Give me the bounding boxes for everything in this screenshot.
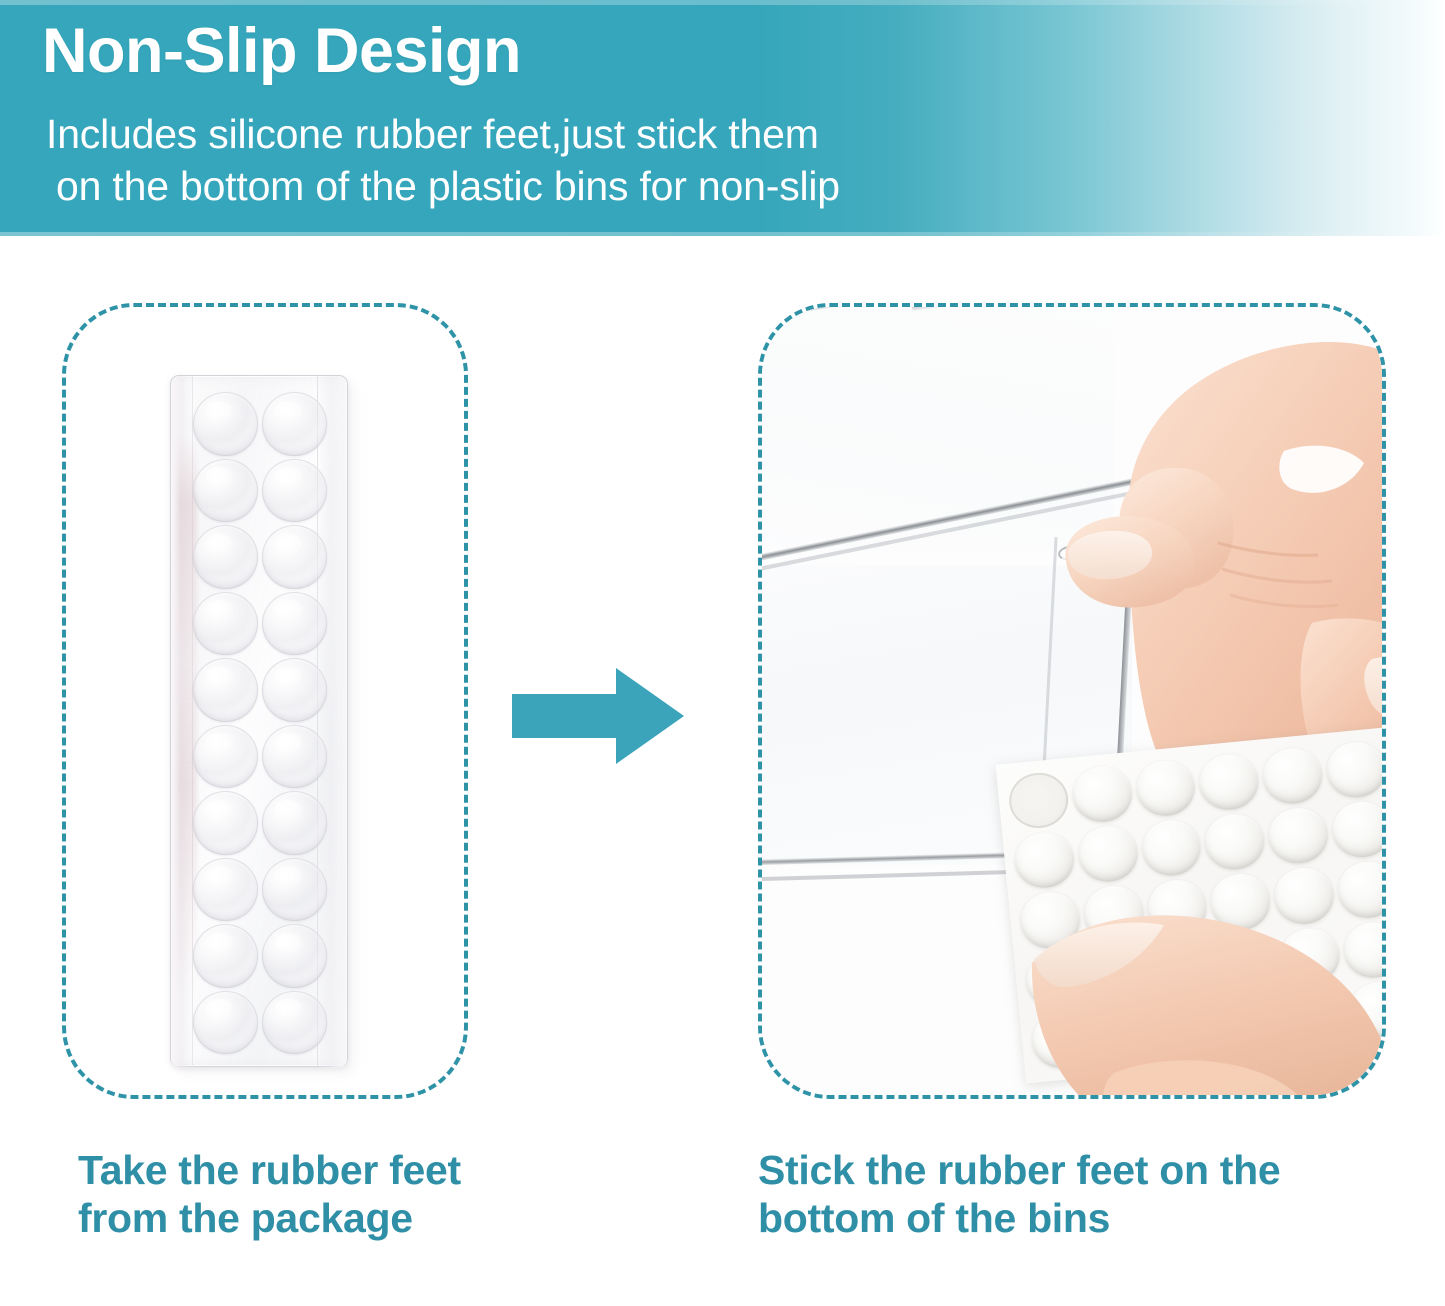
clear-dome	[262, 592, 327, 656]
clear-dome-grid	[193, 392, 327, 1054]
strip-body	[170, 375, 348, 1067]
white-bump	[1203, 812, 1267, 873]
step-1-caption: Take the rubber feet from the package	[78, 1146, 508, 1242]
header-subtitle-line-2: on the bottom of the plastic bins for no…	[46, 160, 840, 212]
header-subtitle-line-1: Includes silicone rubber feet,just stick…	[46, 111, 819, 157]
clear-dome	[262, 858, 327, 922]
white-bump	[1197, 752, 1261, 813]
clear-dome	[193, 991, 258, 1055]
clear-dome	[262, 658, 327, 722]
clear-dome	[262, 924, 327, 988]
thumb-pressing-sheet	[1024, 867, 1386, 1099]
clear-dome	[193, 791, 258, 855]
clear-dome	[262, 392, 327, 456]
header-banner: Non-Slip Design Includes silicone rubber…	[0, 0, 1445, 236]
clear-dome	[193, 459, 258, 523]
clear-dome	[262, 725, 327, 789]
header-subtitle: Includes silicone rubber feet,just stick…	[46, 108, 840, 212]
hand-gripping-bin	[1012, 307, 1386, 763]
clear-dome	[193, 858, 258, 922]
clear-dome	[193, 592, 258, 656]
clear-dome	[262, 991, 327, 1055]
bin-and-hand-image	[762, 307, 1386, 1099]
white-bump	[1070, 764, 1134, 825]
white-bump	[1261, 746, 1325, 807]
clear-dome	[193, 658, 258, 722]
clear-dome	[193, 525, 258, 589]
clear-dome	[193, 725, 258, 789]
step-1-panel	[62, 303, 468, 1099]
white-bump	[1324, 740, 1386, 801]
page-title: Non-Slip Design	[42, 12, 521, 90]
clear-dome	[262, 459, 327, 523]
infographic-page: Non-Slip Design Includes silicone rubber…	[0, 0, 1445, 1306]
clear-dome	[193, 924, 258, 988]
white-bump	[1267, 806, 1331, 867]
clear-dome	[262, 791, 327, 855]
step-2-panel	[758, 303, 1386, 1099]
blister-strip-image	[170, 375, 356, 1075]
white-bump	[1007, 770, 1071, 831]
white-bump	[1330, 800, 1386, 861]
step-arrow-icon	[512, 668, 684, 764]
clear-dome	[262, 525, 327, 589]
clear-dome	[193, 392, 258, 456]
step-2-caption: Stick the rubber feet on the bottom of t…	[758, 1146, 1388, 1242]
white-bump	[1134, 758, 1198, 819]
